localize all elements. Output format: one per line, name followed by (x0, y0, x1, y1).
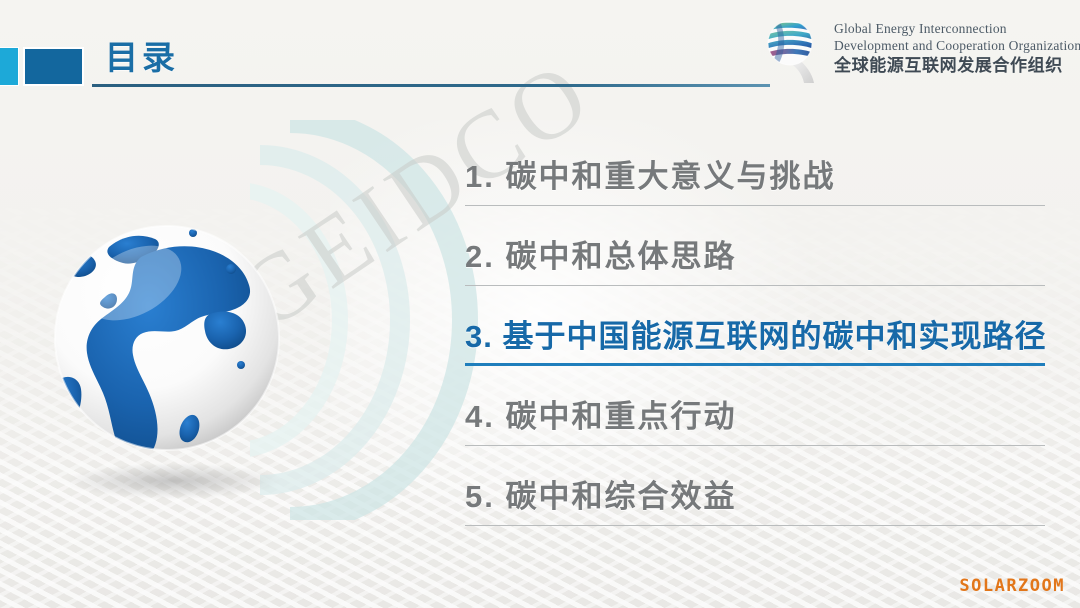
toc-item-label: 5. 碳中和综合效益 (465, 471, 736, 516)
toc-item-1[interactable]: 1. 碳中和重大意义与挑战 (465, 126, 1045, 206)
presentation-slide: GEIDCO (0, 0, 1080, 608)
geidco-globe-icon (762, 13, 824, 85)
logo-english-line-2: Development and Cooperation Organization (834, 38, 1080, 54)
toc-item-divider (465, 525, 1045, 526)
header-accent-block-light (0, 47, 19, 86)
toc-item-label: 2. 碳中和总体思路 (465, 231, 736, 276)
geidco-logo: Global Energy Interconnection Developmen… (762, 8, 1074, 90)
header-divider (92, 84, 770, 87)
toc-item-label: 3. 基于中国能源互联网的碳中和实现路径 (465, 311, 1046, 356)
toc-item-4[interactable]: 4. 碳中和重点行动 (465, 366, 1045, 446)
solarzoom-watermark: SOLARZOOM (959, 576, 1065, 596)
page-title: 目录 (105, 31, 179, 79)
header-accent-block-dark (23, 47, 84, 86)
logo-english-line-1: Global Energy Interconnection (834, 21, 1080, 37)
table-of-contents: 1. 碳中和重大意义与挑战 2. 碳中和总体思路 3. 基于中国能源互联网的碳中… (465, 126, 1045, 526)
toc-item-label: 4. 碳中和重点行动 (465, 391, 736, 436)
toc-item-label: 1. 碳中和重大意义与挑战 (465, 151, 835, 196)
toc-item-3-active[interactable]: 3. 基于中国能源互联网的碳中和实现路径 (465, 286, 1045, 366)
toc-item-2[interactable]: 2. 碳中和总体思路 (465, 206, 1045, 286)
toc-item-5[interactable]: 5. 碳中和综合效益 (465, 446, 1045, 526)
world-globe-illustration (45, 213, 320, 513)
logo-chinese-name: 全球能源互联网发展合作组织 (834, 56, 1080, 77)
